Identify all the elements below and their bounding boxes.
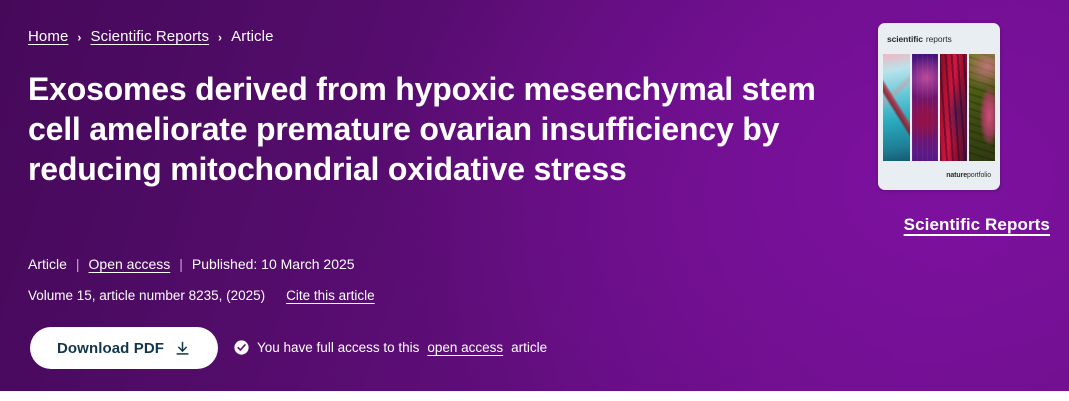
meta-divider: |: [179, 256, 183, 272]
journal-cover-thumbnail[interactable]: scientific reports nature portfolio: [878, 23, 1000, 190]
breadcrumb-item-scientific-reports[interactable]: Scientific Reports: [91, 28, 210, 45]
access-status-note: You have full access to this open access…: [234, 340, 547, 355]
cover-strip-3: [940, 54, 967, 161]
cite-this-article-link[interactable]: Cite this article: [286, 288, 375, 303]
breadcrumb-item-home[interactable]: Home: [28, 28, 68, 45]
check-circle-icon: [234, 340, 249, 355]
article-meta-primary: Article | Open access | Published: 10 Ma…: [28, 256, 355, 272]
article-meta-secondary: Volume 15, article number 8235, (2025) C…: [28, 288, 375, 303]
cover-strip-4: [969, 54, 996, 161]
volume-article-number: Volume 15, article number 8235, (2025): [28, 288, 265, 303]
chevron-right-icon: ›: [218, 31, 222, 43]
cover-publisher-logo: nature portfolio: [878, 161, 1000, 190]
chevron-right-icon: ›: [77, 31, 81, 43]
access-note-suffix: article: [511, 340, 547, 355]
download-pdf-button[interactable]: Download PDF: [30, 327, 218, 369]
cover-strip-2: [912, 54, 939, 161]
access-note-prefix: You have full access to this: [257, 340, 419, 355]
download-icon: [174, 340, 191, 357]
published-date: Published: 10 March 2025: [192, 256, 355, 272]
meta-divider: |: [76, 256, 80, 272]
cover-footer-regular: portfolio: [967, 172, 991, 179]
page-body-area: [0, 391, 1069, 401]
journal-title-link[interactable]: Scientific Reports: [878, 215, 1050, 235]
open-access-link[interactable]: Open access: [89, 256, 171, 272]
article-header-banner: Home › Scientific Reports › Article Exos…: [0, 0, 1069, 391]
breadcrumb: Home › Scientific Reports › Article: [28, 28, 274, 45]
cover-masthead: scientific reports: [878, 23, 1000, 54]
breadcrumb-item-article: Article: [231, 28, 273, 45]
article-type-label: Article: [28, 256, 67, 272]
cover-masthead-regular: reports: [926, 34, 952, 44]
cover-image-strips: [878, 54, 1000, 161]
download-pdf-label: Download PDF: [57, 340, 164, 357]
cover-footer-bold: nature: [946, 172, 967, 179]
page-title: Exosomes derived from hypoxic mesenchyma…: [28, 69, 828, 189]
cover-strip-1: [883, 54, 910, 161]
cover-masthead-bold: scientific: [887, 34, 923, 44]
open-access-inline-link[interactable]: open access: [427, 340, 503, 355]
